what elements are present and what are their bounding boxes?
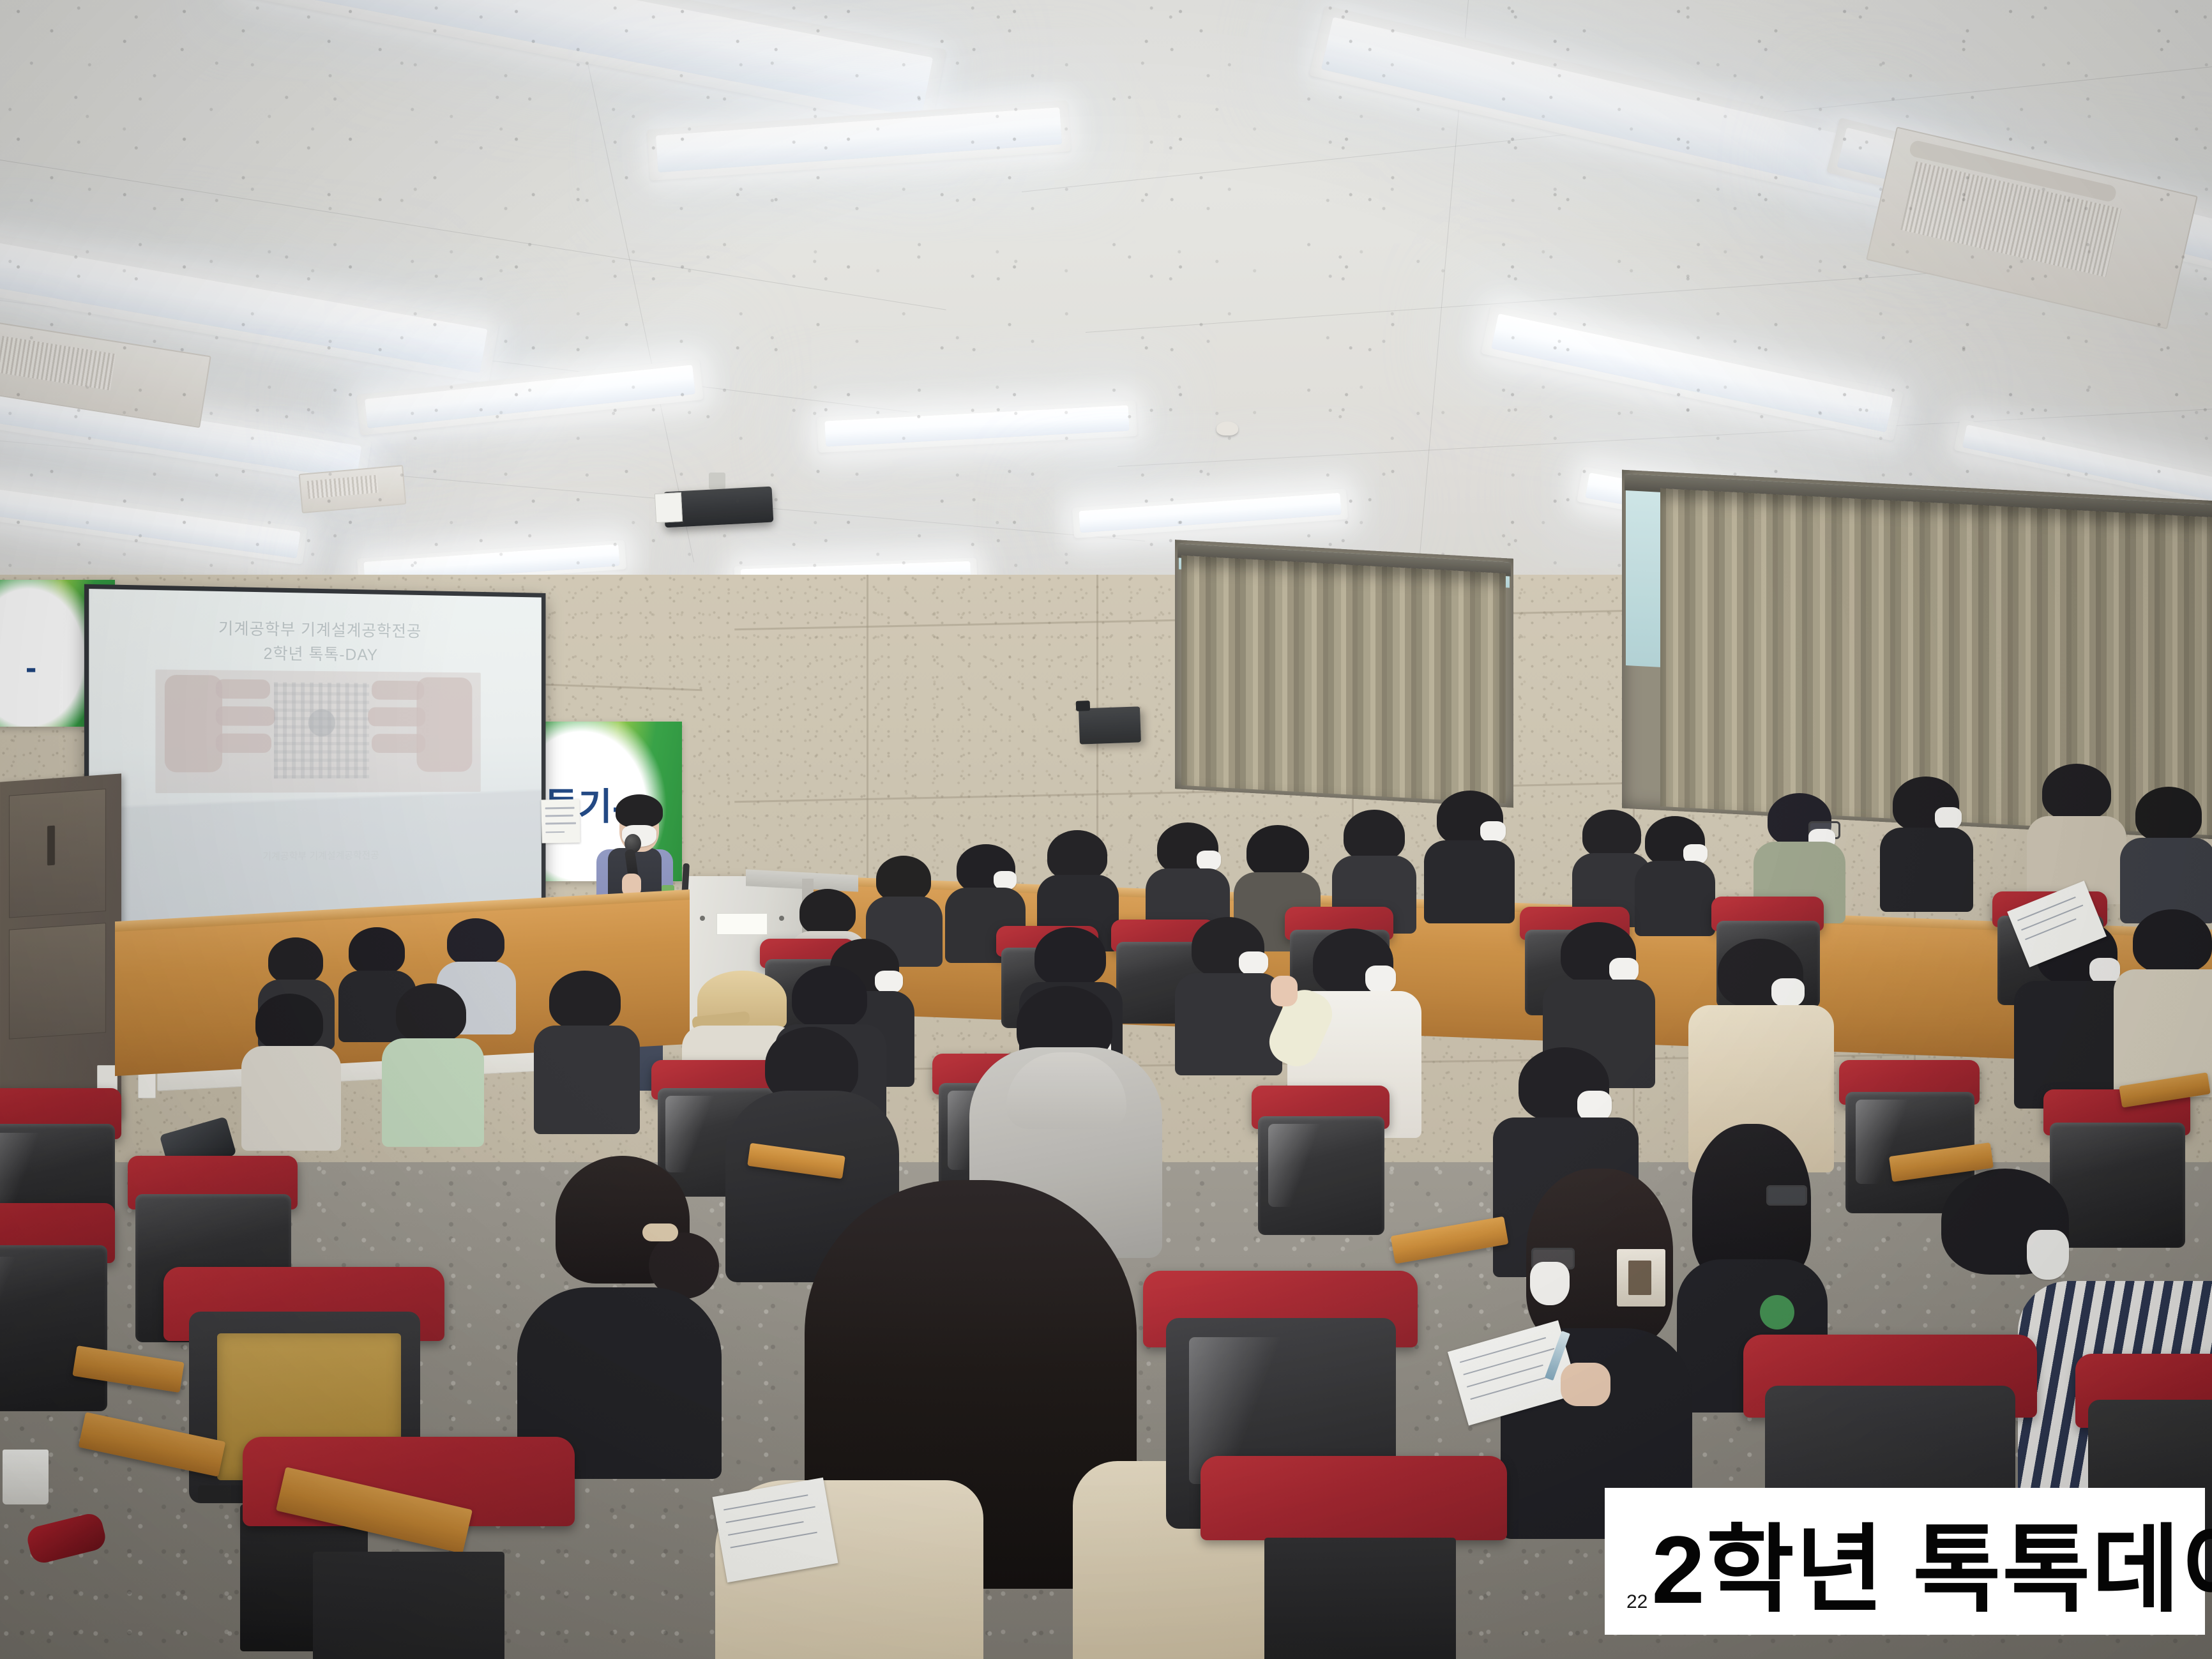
curtain-left (1181, 556, 1506, 803)
ac-vent (299, 465, 407, 513)
ac-vent-cassette (1866, 126, 2198, 329)
lecture-hall-photo: - 들기- 기계공학부 기계설계공학전공 2학년 톡톡-DAY 기계공학부 기계… (0, 0, 2212, 1659)
wall-speaker (1079, 706, 1141, 744)
slide-footer: 기계공학부 기계설계공학전공 (89, 846, 542, 865)
projector-label (655, 492, 683, 523)
hand (1561, 1363, 1610, 1406)
presenter-hair (616, 794, 663, 828)
slide-image (155, 669, 480, 793)
ac-vent (0, 322, 211, 428)
fire-sprinkler-icon (1216, 421, 1238, 436)
caption-text: 2학년 톡톡데이 (1651, 1492, 2212, 1631)
lectern-label (716, 913, 768, 935)
projection-screen: 기계공학부 기계설계공학전공 2학년 톡톡-DAY 기계공학부 기계설계공학전공 (89, 589, 542, 923)
drink-cup (3, 1450, 49, 1504)
caption-number: 22 (1626, 1591, 1648, 1613)
hair-clip (1617, 1249, 1665, 1307)
caption-overlay: 22 2학년 톡톡데이 (1605, 1488, 2205, 1635)
wall-notice (541, 799, 580, 843)
banner-left-text: - (26, 649, 36, 687)
projection-screen-frame: 기계공학부 기계설계공학전공 2학년 톡톡-DAY 기계공학부 기계설계공학전공 (84, 584, 546, 928)
slide-title-line2: 2학년 톡톡-DAY (89, 639, 542, 667)
window-left (1175, 540, 1513, 808)
projector (663, 487, 774, 528)
projector-mount (709, 473, 725, 489)
